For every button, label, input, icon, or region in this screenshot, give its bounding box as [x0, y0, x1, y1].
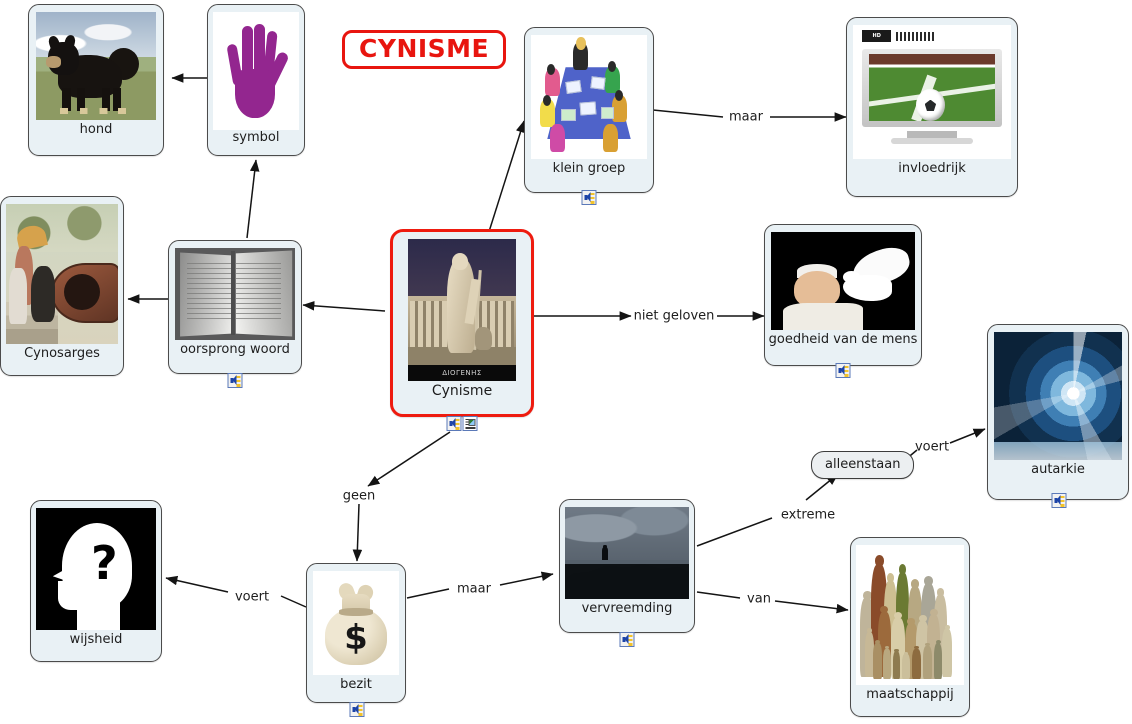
crowd-figure	[873, 643, 882, 679]
node-klein-groep[interactable]: klein groep	[524, 27, 654, 193]
node-oorsprong-woord[interactable]: oorsprong woord	[168, 240, 302, 374]
bezit-image: $	[313, 571, 399, 675]
edge-cynisme-geen	[368, 432, 450, 486]
edge-van-maatschappij	[775, 601, 848, 610]
edge-vervreemding-extreme	[697, 518, 772, 546]
crowd-figure-head	[936, 640, 941, 644]
edge-label-maar-top: maar	[729, 110, 763, 125]
symbol-image	[213, 12, 299, 130]
crowd-figure-head	[904, 652, 908, 655]
edge-bezit-voert	[281, 596, 306, 607]
hdmi-logo	[896, 32, 934, 41]
crowd-figure	[883, 649, 891, 680]
node-maatschappij-label: maatschappij	[866, 688, 954, 702]
crowd-figure-head	[930, 609, 938, 616]
statue-caption: ΔΙΟΓΕΝΗΣ	[408, 365, 516, 381]
node-oorsprong-woord-label: oorsprong woord	[180, 343, 290, 357]
hond-image	[36, 12, 156, 120]
cynisme-icons	[447, 416, 478, 431]
node-maatschappij[interactable]: maatschappij	[850, 537, 970, 717]
node-cynisme-label: Cynisme	[432, 384, 492, 399]
crowd-figure	[912, 649, 921, 680]
edge-geen-bezit	[357, 504, 359, 561]
crowd-figure-head	[945, 625, 951, 630]
page-title: CYNISME	[342, 30, 506, 69]
node-invloedrijk[interactable]: HD invloedrijk	[846, 17, 1018, 197]
edge-oorsprong-symbol	[247, 160, 256, 238]
crowd-figure	[934, 643, 943, 679]
node-vervreemding[interactable]: vervreemding	[559, 499, 695, 633]
wijsheid-image: ?	[36, 508, 156, 630]
crowd-figure	[942, 629, 952, 677]
node-cynosarges-label: Cynosarges	[24, 347, 100, 361]
node-wijsheid[interactable]: ? wijsheid	[30, 500, 162, 662]
speaker-icon[interactable]	[620, 632, 635, 647]
node-vervreemding-label: vervreemding	[582, 602, 673, 616]
hd-logo: HD	[862, 30, 890, 42]
edge-label-maar-bezit: maar	[457, 582, 491, 597]
goedheid-icons	[836, 363, 851, 378]
edge-cynisme-oorsprong	[303, 305, 385, 311]
edge-kleingroep-maar	[653, 110, 723, 117]
node-invloedrijk-label: invloedrijk	[898, 162, 965, 176]
edge-label-voert-wijsheid: voert	[235, 590, 269, 605]
autarkie-image	[994, 332, 1122, 460]
concept-map-canvas: CYNISME hond symbol	[0, 0, 1132, 724]
node-goedheid-van-de-mens[interactable]: goedheid van de mens	[764, 224, 922, 366]
speaker-icon[interactable]	[836, 363, 851, 378]
crowd-figure	[893, 651, 901, 679]
crowd-figure-head	[937, 588, 945, 597]
node-alleenstaan[interactable]: alleenstaan	[811, 451, 914, 479]
dollar-glyph: $	[313, 621, 399, 655]
crowd-figure	[902, 654, 910, 679]
node-symbol-label: symbol	[233, 131, 280, 145]
crowd-figure	[923, 646, 932, 680]
crowd-figure-head	[894, 612, 902, 619]
edge-vervreemding-van	[697, 592, 740, 598]
maatschappij-image	[856, 545, 964, 685]
edge-maar-vervreemding	[500, 574, 553, 585]
cynosarges-image	[6, 204, 118, 344]
node-klein-groep-label: klein groep	[553, 162, 626, 176]
edge-label-niet-geloven: niet geloven	[634, 309, 715, 324]
goedheid-image	[771, 232, 915, 330]
cynisme-image: ΔΙΟΓΕΝΗΣ	[408, 239, 516, 381]
node-autarkie-label: autarkie	[1031, 463, 1085, 477]
crowd-figure-head	[907, 618, 915, 624]
crowd-figure-head	[875, 555, 884, 566]
node-hond[interactable]: hond	[28, 4, 164, 156]
speaker-icon[interactable]	[228, 373, 243, 388]
node-cynosarges[interactable]: Cynosarges	[0, 196, 124, 376]
edge-label-geen: geen	[343, 489, 376, 504]
speaker-icon[interactable]	[447, 416, 462, 431]
speaker-icon[interactable]	[1052, 493, 1067, 508]
node-wijsheid-label: wijsheid	[70, 633, 123, 647]
edge-label-van: van	[747, 592, 771, 607]
node-autarkie[interactable]: autarkie	[987, 324, 1129, 500]
klein-groep-icons	[582, 190, 597, 205]
speaker-icon[interactable]	[582, 190, 597, 205]
vervreemding-icons	[620, 632, 635, 647]
edge-voert-autarkie	[950, 429, 985, 443]
node-bezit[interactable]: $ bezit	[306, 563, 406, 703]
edge-label-voert-autarkie: voert	[915, 440, 949, 455]
crowd-figure-head	[919, 615, 927, 621]
autarkie-icons	[1052, 493, 1067, 508]
node-hond-label: hond	[80, 123, 113, 137]
crowd-figure-head	[924, 576, 933, 586]
crowd-figure-head	[875, 640, 880, 644]
crowd-figure-head	[894, 649, 898, 652]
crowd-figure-head	[867, 628, 873, 633]
oorsprong-woord-image	[175, 248, 295, 340]
node-goedheid-label: goedheid van de mens	[769, 333, 918, 347]
edge-label-extreme: extreme	[781, 508, 835, 523]
edge-cynisme-kleingroep	[487, 121, 524, 238]
edge-voert-wijsheid	[166, 578, 228, 592]
edge-bezit-maar	[407, 589, 449, 598]
question-mark-glyph: ?	[77, 530, 132, 596]
node-cynisme-root[interactable]: ΔΙΟΓΕΝΗΣ Cynisme	[390, 229, 534, 417]
node-symbol[interactable]: symbol	[207, 4, 305, 156]
bezit-icons	[350, 702, 365, 717]
note-icon[interactable]	[463, 416, 478, 431]
invloedrijk-image: HD	[853, 25, 1011, 159]
klein-groep-image	[531, 35, 647, 159]
node-bezit-label: bezit	[340, 678, 372, 692]
vervreemding-image	[565, 507, 689, 599]
speaker-icon[interactable]	[350, 702, 365, 717]
crowd-figure-head	[911, 579, 919, 588]
oorsprong-woord-icons	[228, 373, 243, 388]
